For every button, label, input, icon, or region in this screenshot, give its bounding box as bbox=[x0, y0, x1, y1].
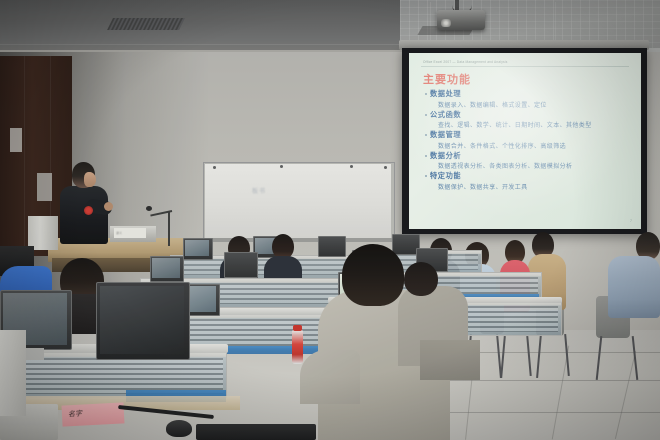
section-heading: 特定功能 bbox=[430, 171, 461, 181]
classroom-photo: Office Excel 2007 — Data Management and … bbox=[0, 0, 660, 440]
section-detail: 数据透视表分析、各类图表分析、数据模拟分析 bbox=[438, 161, 635, 170]
slide-section: 数据分析 数据透视表分析、各类图表分析、数据模拟分析 bbox=[425, 151, 635, 171]
mic-stand bbox=[168, 212, 170, 246]
ceiling-vent-icon bbox=[107, 18, 185, 30]
shirt-logo-icon bbox=[84, 206, 93, 215]
slide-header: Office Excel 2007 — Data Management and … bbox=[423, 60, 623, 64]
slide-bullet-list: 数据处理 数据录入、数据编辑、格式设置、定位 公式函数 查找、逻辑、数学、统计、… bbox=[425, 89, 635, 192]
slide-section: 数据处理 数据录入、数据编辑、格式设置、定位 bbox=[425, 89, 635, 109]
section-heading: 公式函数 bbox=[430, 110, 461, 120]
pink-label-text: 名字 bbox=[68, 409, 83, 420]
projector-lens-icon bbox=[441, 19, 451, 27]
slide-section: 数据管理 数据合并、条件格式、个性化排序、高级筛选 bbox=[425, 130, 635, 150]
bullet-dot-icon bbox=[425, 175, 427, 177]
desktop-pc-tower bbox=[28, 216, 58, 250]
handout-text: 讲义 bbox=[116, 231, 122, 235]
slide-page-number: 7 bbox=[630, 219, 632, 223]
grey-suit-arm bbox=[300, 350, 360, 404]
whiteboard bbox=[205, 164, 391, 238]
section-detail: 数据录入、数据编辑、格式设置、定位 bbox=[438, 100, 635, 109]
wall-notice bbox=[10, 128, 22, 152]
wall-notice bbox=[37, 173, 52, 201]
bullet-dot-icon bbox=[425, 155, 427, 157]
presenter-torso bbox=[60, 186, 108, 244]
presenter-hand bbox=[104, 202, 113, 211]
bullet-dot-icon bbox=[425, 114, 427, 116]
person-shoulder bbox=[420, 340, 480, 380]
bullet-dot-icon bbox=[425, 134, 427, 136]
presenter-face bbox=[84, 172, 96, 187]
slide-section: 特定功能 数据保护、数据共享、开发工具 bbox=[425, 171, 635, 191]
section-heading: 数据处理 bbox=[430, 89, 461, 99]
bottle-cap bbox=[293, 325, 302, 331]
section-detail: 查找、逻辑、数学、统计、日期时间、文本、其他类型 bbox=[438, 120, 635, 129]
section-heading: 数据分析 bbox=[430, 151, 461, 161]
computer-mouse bbox=[166, 420, 192, 437]
section-detail: 数据合并、条件格式、个性化排序、高级筛选 bbox=[438, 141, 635, 150]
slide-section: 公式函数 查找、逻辑、数学、统计、日期时间、文本、其他类型 bbox=[425, 110, 635, 130]
ceiling-edge-line bbox=[0, 44, 400, 45]
section-detail: 数据保护、数据共享、开发工具 bbox=[438, 182, 635, 191]
slide-title: 主要功能 bbox=[423, 71, 471, 87]
projection-screen: Office Excel 2007 — Data Management and … bbox=[409, 53, 641, 229]
microphone-icon bbox=[146, 206, 152, 211]
pc-case-foreground bbox=[0, 330, 26, 416]
section-heading: 数据管理 bbox=[430, 130, 461, 140]
bullet-dot-icon bbox=[425, 93, 427, 95]
slide-header-rule bbox=[421, 66, 629, 67]
whiteboard-writing: 板书 bbox=[252, 186, 266, 195]
coca-cola-bottle bbox=[292, 330, 303, 364]
